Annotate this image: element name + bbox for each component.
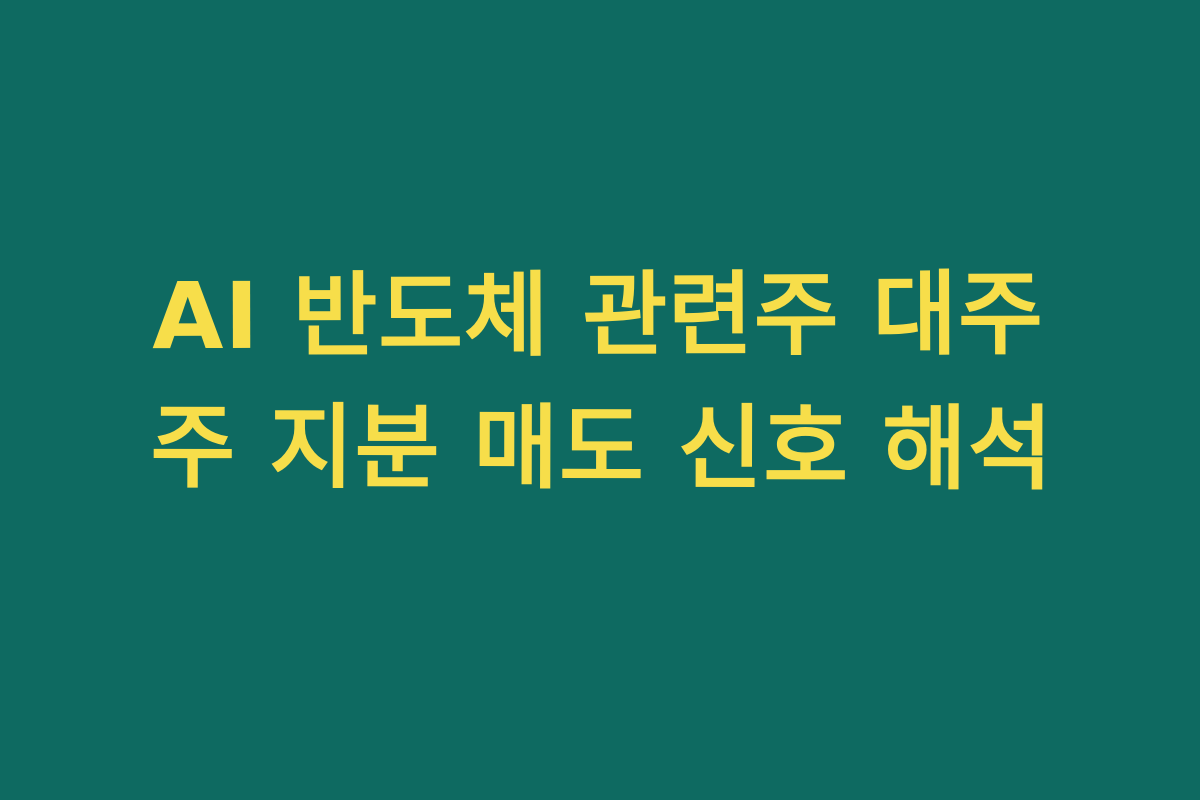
thumbnail-canvas: AI 반도체 관련주 대주 주 지분 매도 신호 해석 [0, 0, 1200, 800]
headline-line-1: AI 반도체 관련주 대주 [98, 248, 1098, 384]
headline-line-2: 주 지분 매도 신호 해석 [102, 381, 1102, 516]
headline-text-block: AI 반도체 관련주 대주 주 지분 매도 신호 해석 [100, 249, 1100, 515]
